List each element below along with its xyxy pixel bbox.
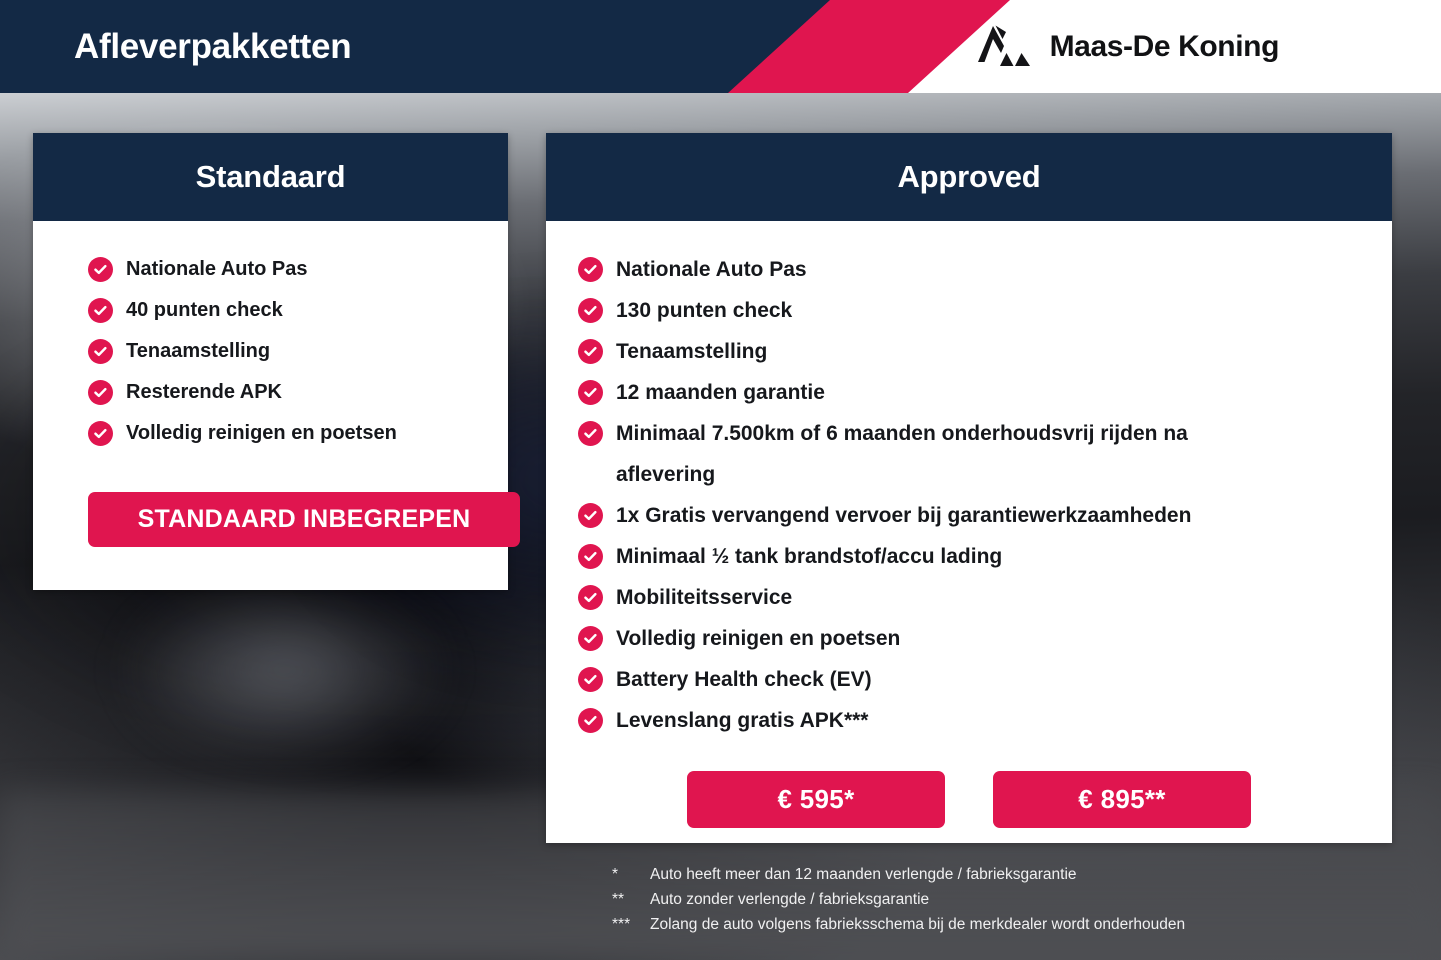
feature-label: 1x Gratis vervangend vervoer bij garanti… [616,495,1191,536]
feature-item: Tenaamstelling [546,331,1392,372]
feature-item: Volledig reinigen en poetsen [546,618,1392,659]
feature-item: Minimaal 7.500km of 6 maanden onderhouds… [546,413,1268,495]
package-card-approved: Approved Nationale Auto Pas 130 punten c… [546,133,1392,843]
feature-label: Tenaamstelling [616,331,767,372]
check-circle-icon [578,298,603,323]
footnote-text: Auto zonder verlengde / fabrieksgarantie [650,887,929,912]
feature-item: 12 maanden garantie [546,372,1392,413]
check-circle-icon [578,626,603,651]
feature-label: Battery Health check (EV) [616,659,872,700]
feature-label: Minimaal 7.500km of 6 maanden onderhouds… [616,413,1268,495]
header-banner: Afleverpakketten Maas-De Koning [0,0,1441,93]
price-button-row: € 595* € 895** [546,741,1392,828]
price-button-595[interactable]: € 595* [687,771,945,828]
check-circle-icon [578,708,603,733]
check-circle-icon [578,380,603,405]
standaard-button-row: STANDAARD INBEGREPEN [33,454,508,547]
feature-label: Resterende APK [126,372,282,413]
feature-label: Levenslang gratis APK*** [616,700,868,741]
check-circle-icon [578,503,603,528]
feature-label: Nationale Auto Pas [126,249,308,290]
brand-name: Maas-De Koning [1050,30,1279,64]
check-circle-icon [88,339,113,364]
feature-item: 40 punten check [33,290,508,331]
feature-list-approved: Nationale Auto Pas 130 punten check Tena… [546,221,1392,741]
check-circle-icon [578,339,603,364]
feature-label: Nationale Auto Pas [616,249,807,290]
footnote-text: Auto heeft meer dan 12 maanden verlengde… [650,862,1077,887]
check-circle-icon [578,257,603,282]
feature-label: Minimaal ½ tank brandstof/accu lading [616,536,1002,577]
check-circle-icon [578,667,603,692]
footnote-item: * Auto heeft meer dan 12 maanden verleng… [612,862,1392,887]
feature-item: Levenslang gratis APK*** [546,700,1392,741]
check-circle-icon [88,380,113,405]
background-highlight-left [120,580,450,760]
feature-item: Tenaamstelling [33,331,508,372]
feature-label: Mobiliteitsservice [616,577,792,618]
card-title-approved: Approved [897,159,1040,195]
price-button-895[interactable]: € 895** [993,771,1251,828]
footnote-marker: ** [612,887,650,912]
feature-label: Tenaamstelling [126,331,270,372]
check-circle-icon [88,421,113,446]
footnote-marker: *** [612,912,650,937]
feature-label: 12 maanden garantie [616,372,825,413]
footnote-text: Zolang de auto volgens fabrieksschema bi… [650,912,1185,937]
page-title: Afleverpakketten [74,0,351,93]
feature-item: 1x Gratis vervangend vervoer bij garanti… [546,495,1392,536]
card-header-standaard: Standaard [33,133,508,221]
card-title-standaard: Standaard [196,159,346,195]
card-header-approved: Approved [546,133,1392,221]
feature-label: Volledig reinigen en poetsen [616,618,900,659]
promo-poster: Afleverpakketten Maas-De Koning Standaar… [0,0,1441,960]
footnote-marker: * [612,862,650,887]
feature-label: 40 punten check [126,290,283,331]
standaard-inbegrepen-button[interactable]: STANDAARD INBEGREPEN [88,492,520,547]
check-circle-icon [88,298,113,323]
feature-item: Nationale Auto Pas [33,249,508,290]
check-circle-icon [88,257,113,282]
feature-item: Resterende APK [33,372,508,413]
feature-label: 130 punten check [616,290,792,331]
check-circle-icon [578,421,603,446]
brand-lockup: Maas-De Koning [975,0,1279,93]
package-card-standaard: Standaard Nationale Auto Pas 40 punten c… [33,133,508,590]
feature-item: Nationale Auto Pas [546,249,1392,290]
check-circle-icon [578,585,603,610]
feature-item: Volledig reinigen en poetsen [33,413,508,454]
feature-item: Battery Health check (EV) [546,659,1392,700]
feature-label: Volledig reinigen en poetsen [126,413,397,454]
feature-item: Minimaal ½ tank brandstof/accu lading [546,536,1392,577]
feature-list-standaard: Nationale Auto Pas 40 punten check Tenaa… [33,221,508,454]
feature-item: 130 punten check [546,290,1392,331]
feature-item: Mobiliteitsservice [546,577,1392,618]
check-circle-icon [578,544,603,569]
footnote-item: ** Auto zonder verlengde / fabrieksgaran… [612,887,1392,912]
maas-de-koning-logo-icon [975,22,1033,71]
footnote-list: * Auto heeft meer dan 12 maanden verleng… [612,862,1392,937]
footnote-item: *** Zolang de auto volgens fabrieksschem… [612,912,1392,937]
